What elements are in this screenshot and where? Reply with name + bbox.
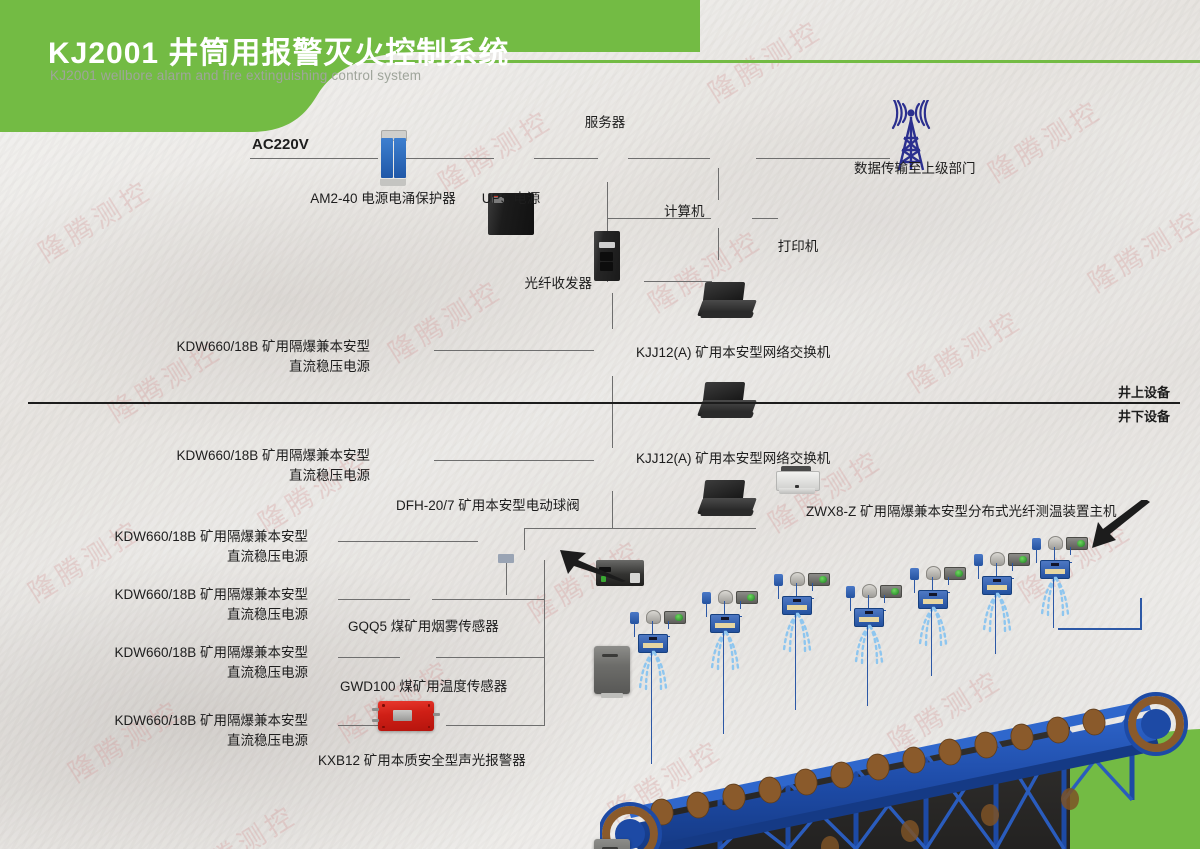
ups-label: UPS 电源 xyxy=(478,190,544,207)
power-supply-icon xyxy=(378,701,434,731)
switch-up-label: KJJ12(A) 矿用本安型网络交换机 xyxy=(636,344,830,361)
above-ground-label: 井上设备 xyxy=(1118,384,1170,401)
printer-label: 打印机 xyxy=(772,238,824,255)
water-spray-icon xyxy=(778,612,818,656)
wire-pc2-pc3 xyxy=(718,228,719,260)
cluster-detector-icon xyxy=(646,610,661,624)
water-spray-icon xyxy=(850,624,890,668)
wire-psu2-to-valve xyxy=(338,541,478,542)
alarm-label: KXB12 矿用本质安全型声光报警器 xyxy=(318,752,526,769)
psu-label-line2: 直流稳压电源 xyxy=(68,664,308,681)
wire-psu3-to-smoke xyxy=(338,599,410,600)
wire-converter-to-switch xyxy=(612,293,613,329)
cluster-detector-icon xyxy=(718,590,733,604)
computer-label: 计算机 xyxy=(664,203,705,220)
water-spray-icon xyxy=(706,630,746,674)
wire-server-to-pc1 xyxy=(628,158,710,159)
wire-psu1-to-switch xyxy=(434,460,594,461)
diagram-canvas: 隆腾测控 隆腾测控 隆腾测控 隆腾测控 隆腾测控 隆腾测控 隆腾测控 隆腾测控 … xyxy=(0,0,1200,849)
temp-label: GWD100 煤矿用温度传感器 xyxy=(340,678,507,695)
sprinkler-cluster xyxy=(972,546,1038,656)
network-switch-icon xyxy=(594,646,630,694)
wire-bus-to-valve xyxy=(524,528,525,550)
wire-smoke-to-bus xyxy=(432,599,544,600)
server-tower-icon xyxy=(594,231,620,281)
water-spray-icon xyxy=(1036,576,1076,620)
uplink-label: 数据传输至上级部门 xyxy=(854,160,976,177)
wire-pc2-printer xyxy=(752,218,778,219)
switch-dn-label: KJJ12(A) 矿用本安型网络交换机 xyxy=(636,450,830,467)
sprinkler-cluster xyxy=(628,604,694,764)
wire-valve-actuator-drop xyxy=(506,563,507,595)
psu-label-line1: KDW660/18B 矿用隔爆兼本安型 xyxy=(68,528,308,545)
wire-trunk-crossing xyxy=(612,376,613,448)
cluster-detector-icon xyxy=(990,552,1005,566)
page-title: KJ2001 井筒用报警灭火控制系统 xyxy=(48,28,509,72)
sprinkler-cluster xyxy=(772,566,838,712)
spd-label: AM2-40 电源电涌保护器 xyxy=(308,190,458,207)
psu-label-line2: 直流稳压电源 xyxy=(68,606,308,623)
psu-up-label-line1: KDW660/18B 矿用隔爆兼本安型 xyxy=(130,338,370,355)
wire-ac-to-spd xyxy=(250,158,378,159)
cluster-detector-icon xyxy=(926,566,941,580)
page-subtitle: KJ2001 wellbore alarm and fire extinguis… xyxy=(50,68,421,83)
wire-spd-to-ups xyxy=(406,158,494,159)
wire-psu-up-to-switch xyxy=(434,350,594,351)
water-spray-icon xyxy=(914,606,954,650)
laptop-icon xyxy=(700,282,754,320)
psu-label-line1: KDW660/18B 矿用隔爆兼本安型 xyxy=(68,712,308,729)
laptop-icon xyxy=(700,382,754,420)
converter-label: 光纤收发器 xyxy=(508,275,592,292)
cluster-detector-icon xyxy=(1048,536,1063,550)
psu-label-line1: KDW660/18B 矿用隔爆兼本安型 xyxy=(68,586,308,603)
printer-icon xyxy=(776,466,818,496)
pointer-arrow-icon xyxy=(1088,500,1152,550)
sprinkler-cluster xyxy=(1030,530,1096,634)
sprinkler-cluster xyxy=(844,578,910,706)
psu-label-line1: KDW660/18B 矿用隔爆兼本安型 xyxy=(68,644,308,661)
server-label: 服务器 xyxy=(580,114,630,131)
water-spray-icon xyxy=(978,592,1018,636)
surface-underground-divider xyxy=(28,402,1180,404)
valve-label: DFH-20/7 矿用本安型电动球阀 xyxy=(396,497,580,514)
cluster-detector-icon xyxy=(790,572,805,586)
wire-switch-down xyxy=(612,491,613,528)
valve-actuator-icon xyxy=(498,554,514,563)
pointer-arrow-icon xyxy=(556,548,628,582)
water-spray-icon xyxy=(634,650,674,694)
wire-sensor-collector-bus xyxy=(544,560,545,726)
surge-protector-icon xyxy=(378,130,408,186)
wire-psu4-to-temp xyxy=(338,657,400,658)
sprinkler-cluster xyxy=(908,560,974,680)
smoke-label: GQQ5 煤矿用烟雾传感器 xyxy=(348,618,499,635)
psu-up-label-line2: 直流稳压电源 xyxy=(130,358,370,375)
dts-label: ZWX8-Z 矿用隔爆兼本安型分布式光纤测温装置主机 xyxy=(806,503,1117,520)
wire-alarm-to-bus xyxy=(446,725,544,726)
psu-label-line1: KDW660/18B 矿用隔爆兼本安型 xyxy=(130,447,370,464)
sprinkler-cluster xyxy=(700,584,766,736)
psu-label-line2: 直流稳压电源 xyxy=(68,548,308,565)
ac-input-label: AC220V xyxy=(252,136,309,153)
laptop-icon xyxy=(700,480,754,518)
below-ground-label: 井下设备 xyxy=(1118,408,1170,425)
network-switch-icon xyxy=(594,839,630,849)
psu-label-line2: 直流稳压电源 xyxy=(68,732,308,749)
cluster-detector-icon xyxy=(862,584,877,598)
wire-ups-to-server xyxy=(534,158,598,159)
wire-pc1-pc2 xyxy=(718,168,719,200)
wire-temp-to-bus xyxy=(436,657,544,658)
psu-label-line2: 直流稳压电源 xyxy=(130,467,370,484)
wire-switch-to-dts-bus xyxy=(524,528,756,529)
